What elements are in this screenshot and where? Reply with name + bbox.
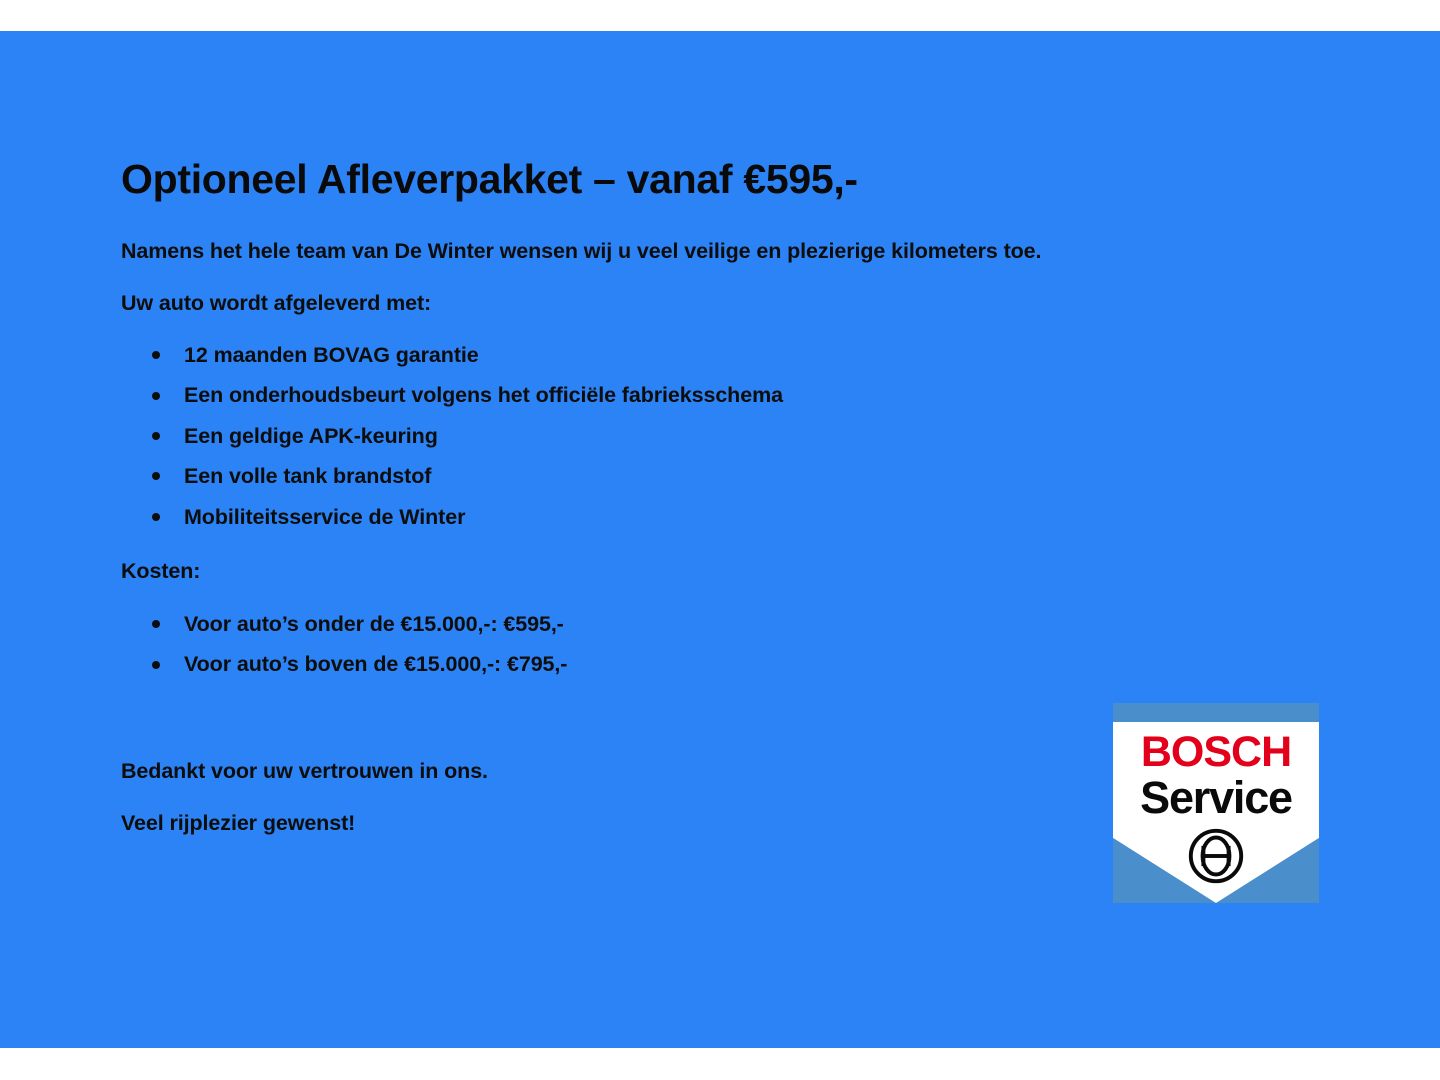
costs-heading: Kosten:: [121, 559, 200, 584]
list-item-label: Een geldige APK-keuring: [184, 424, 438, 448]
page-title: Optioneel Afleverpakket – vanaf €595,-: [121, 156, 858, 203]
slide-canvas: Optioneel Afleverpakket – vanaf €595,- N…: [0, 31, 1440, 1048]
bosch-armature-icon: [1188, 828, 1244, 884]
thanks-paragraph: Bedankt voor uw vertrouwen in ons.: [121, 759, 488, 784]
list-item-label: Voor auto’s boven de €15.000,-: €795,-: [184, 652, 567, 676]
bullet-dot-icon: [152, 620, 160, 628]
bosch-wordmark: BOSCH: [1113, 730, 1319, 774]
closing-paragraph: Veel rijplezier gewenst!: [121, 811, 355, 836]
bullet-dot-icon: [152, 661, 160, 669]
list-item-label: Een volle tank brandstof: [184, 464, 431, 488]
list-item: Mobiliteitsservice de Winter: [152, 497, 783, 537]
list-item-label: Mobiliteitsservice de Winter: [184, 505, 465, 529]
delivery-lead-in: Uw auto wordt afgeleverd met:: [121, 291, 431, 316]
list-item-label: Voor auto’s onder de €15.000,-: €595,-: [184, 612, 564, 636]
bosch-service-logo: BOSCH Service: [1113, 703, 1319, 903]
features-list: 12 maanden BOVAG garantie Een onderhouds…: [152, 335, 783, 537]
bullet-dot-icon: [152, 392, 160, 400]
list-item: Een volle tank brandstof: [152, 456, 783, 496]
list-item: Een onderhoudsbeurt volgens het officiël…: [152, 375, 783, 415]
bullet-dot-icon: [152, 351, 160, 359]
bullet-dot-icon: [152, 472, 160, 480]
costs-list: Voor auto’s onder de €15.000,-: €595,- V…: [152, 604, 567, 685]
list-item-label: 12 maanden BOVAG garantie: [184, 343, 479, 367]
bullet-dot-icon: [152, 513, 160, 521]
list-item: Voor auto’s onder de €15.000,-: €595,-: [152, 604, 567, 644]
list-item-label: Een onderhoudsbeurt volgens het officiël…: [184, 383, 783, 407]
list-item: Een geldige APK-keuring: [152, 416, 783, 456]
list-item: Voor auto’s boven de €15.000,-: €795,-: [152, 644, 567, 684]
bullet-dot-icon: [152, 432, 160, 440]
intro-paragraph: Namens het hele team van De Winter wense…: [121, 239, 1041, 264]
bosch-service-wordmark: Service: [1113, 775, 1319, 821]
list-item: 12 maanden BOVAG garantie: [152, 335, 783, 375]
